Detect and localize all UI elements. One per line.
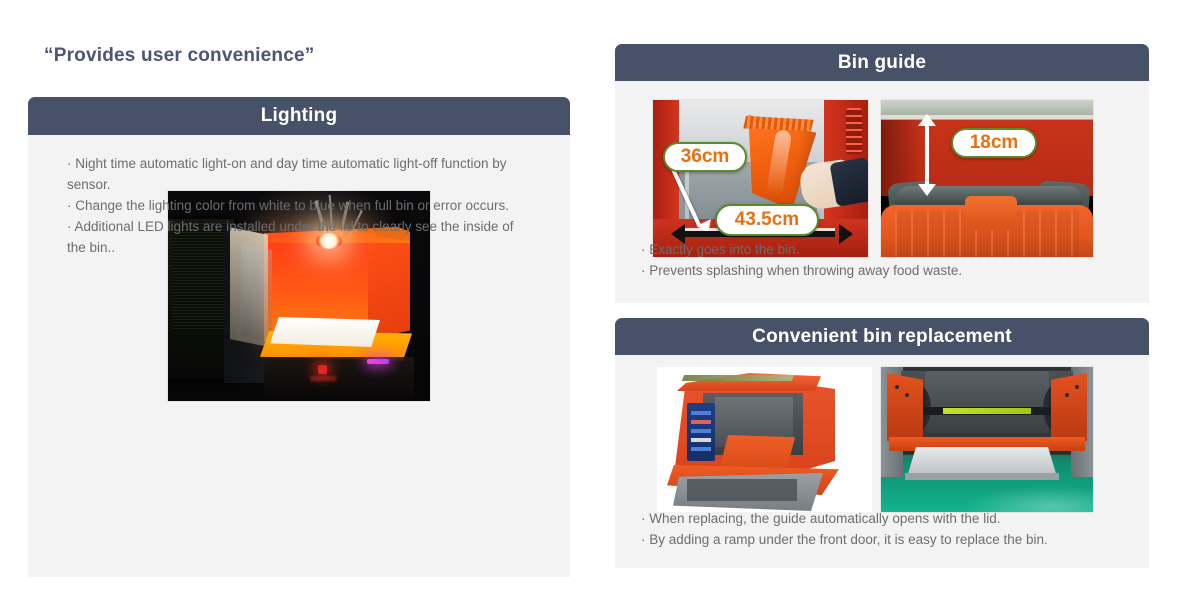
lid-edge-strip <box>682 375 794 381</box>
orange-frame-left <box>887 373 923 441</box>
vent-grille <box>846 108 862 154</box>
list-item: · By adding a ramp under the front door,… <box>641 529 1141 550</box>
arrow-head-icon <box>918 114 936 126</box>
card-bin-guide-title: Bin guide <box>838 52 926 74</box>
kiosk-white-tray <box>270 317 380 347</box>
ramp-edge <box>905 473 1059 480</box>
magenta-led-strip <box>367 359 389 364</box>
card-lighting-header: Lighting <box>28 97 570 135</box>
card-bin-replacement-body: · When replacing, the guide automaticall… <box>615 355 1149 568</box>
list-item: · Change the lighting color from white t… <box>67 195 527 216</box>
green-marker-strip <box>943 408 1031 414</box>
card-bin-replacement-header: Convenient bin replacement <box>615 318 1149 355</box>
list-item: · Additional LED lights are installed un… <box>67 216 527 258</box>
red-indicator-light <box>318 365 327 374</box>
bin-guide-bullet-list: · Exactly goes into the bin. · Prevents … <box>641 239 1111 281</box>
measurement-badge-height: 18cm <box>951 128 1037 158</box>
list-item: · Night time automatic light-on and day … <box>67 153 527 195</box>
page-title: “Provides user convenience” <box>44 45 314 67</box>
card-lighting-title: Lighting <box>261 105 338 127</box>
bin-handle <box>965 196 1017 230</box>
lighting-bullet-list: · Night time automatic light-on and day … <box>67 153 527 258</box>
replacement-bullet-list: · When replacing, the guide automaticall… <box>641 508 1141 550</box>
orange-frame-right <box>1051 373 1087 441</box>
card-bin-guide-body: 36cm 43.5cm 18cm · Exa <box>615 81 1149 303</box>
card-bin-replacement: Convenient bin replacement <box>615 318 1149 568</box>
list-item: · Exactly goes into the bin. <box>641 239 1111 260</box>
kiosk-base-shadow <box>264 357 414 401</box>
measurement-badge-width: 43.5cm <box>715 204 819 236</box>
card-lighting: Lighting <box>28 97 570 577</box>
indicator-label-blur <box>310 376 336 381</box>
card-bin-replacement-title: Convenient bin replacement <box>752 326 1012 348</box>
measurement-badge-depth: 36cm <box>663 142 747 172</box>
kiosk-base-recess <box>687 479 797 501</box>
bolt-icon <box>895 385 899 389</box>
list-item: · Prevents splashing when throwing away … <box>641 260 1111 281</box>
slide-root: “Provides user convenience” Lighting <box>0 0 1180 598</box>
kiosk-glass-panel <box>242 244 272 342</box>
photo-bin-ramp <box>881 367 1093 512</box>
arrow-head-icon <box>918 184 936 196</box>
card-bin-guide-header: Bin guide <box>615 44 1149 81</box>
bolt-icon <box>905 393 909 397</box>
card-bin-guide: Bin guide <box>615 44 1149 303</box>
photo-kiosk-open-lid <box>657 367 872 512</box>
card-lighting-body: · Night time automatic light-on and day … <box>28 135 570 577</box>
photo-bin-guide-clearance: 18cm <box>881 100 1093 257</box>
photo-bin-guide-insertion: 36cm 43.5cm <box>653 100 868 257</box>
list-item: · When replacing, the guide automaticall… <box>641 508 1141 529</box>
height-measure-line <box>925 124 929 188</box>
control-panel <box>687 403 715 461</box>
housing-highlight <box>881 115 1093 119</box>
bolt-icon <box>1075 385 1079 389</box>
bolt-icon <box>1065 393 1069 397</box>
bin-body <box>925 371 1049 433</box>
sleeve <box>829 157 868 207</box>
